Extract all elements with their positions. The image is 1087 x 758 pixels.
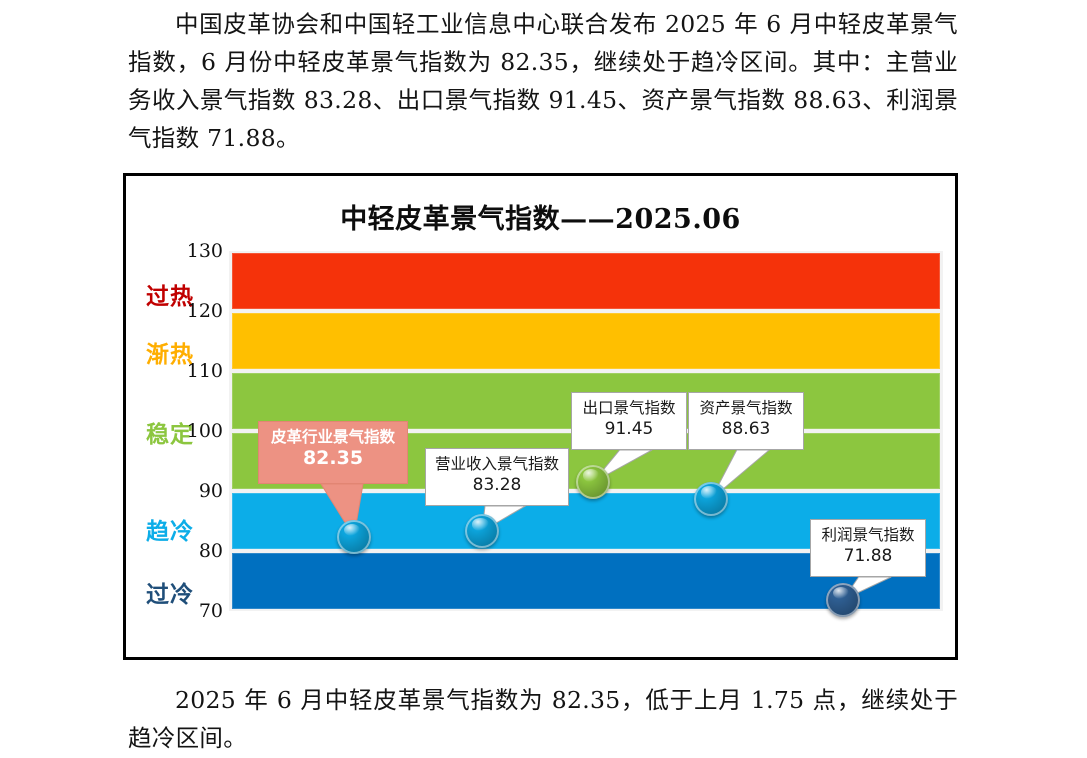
marker-ring — [576, 465, 610, 499]
callout-title: 利润景气指数 — [817, 525, 919, 545]
data-callout-0[interactable]: 皮革行业景气指数82.35 — [258, 421, 408, 484]
data-callout-1[interactable]: 营业收入景气指数83.28 — [425, 448, 569, 506]
data-point-marker-0[interactable] — [337, 520, 371, 554]
chart-band — [232, 253, 940, 309]
y-axis-tick-label: 130 — [177, 240, 223, 262]
callout-value: 83.28 — [432, 474, 562, 497]
y-axis-tick-label: 110 — [177, 360, 223, 382]
marker-ring — [337, 520, 371, 554]
y-axis-tick-label: 120 — [177, 300, 223, 322]
data-point-marker-1[interactable] — [465, 514, 499, 548]
summary-paragraph: 2025 年 6 月中轻皮革景气指数为 82.35，低于上月 1.75 点，继续… — [128, 681, 958, 757]
callout-title: 营业收入景气指数 — [432, 454, 562, 474]
data-point-marker-3[interactable] — [694, 482, 728, 516]
y-axis-tick-label: 90 — [177, 480, 223, 502]
y-axis-tick-label: 70 — [177, 600, 223, 622]
callout-title: 出口景气指数 — [578, 398, 680, 418]
intro-paragraph: 中国皮革协会和中国轻工业信息中心联合发布 2025 年 6 月中轻皮革景气指数，… — [128, 5, 958, 157]
callout-value: 91.45 — [578, 418, 680, 441]
data-callout-4[interactable]: 利润景气指数71.88 — [810, 519, 926, 577]
chart-title: 中轻皮革景气指数——2025.06 — [126, 197, 955, 236]
callout-value: 71.88 — [817, 545, 919, 568]
callout-value: 82.35 — [265, 447, 401, 470]
y-axis-tick-label: 100 — [177, 420, 223, 442]
data-point-marker-4[interactable] — [826, 583, 860, 617]
chart-container: 中轻皮革景气指数——2025.06 过热渐热稳定趋冷过冷 13012011010… — [123, 173, 958, 660]
callout-title: 资产景气指数 — [695, 398, 797, 418]
marker-ring — [694, 482, 728, 516]
data-callout-3[interactable]: 资产景气指数88.63 — [688, 392, 804, 450]
y-axis: 130120110100908070 — [163, 251, 223, 611]
marker-ring — [465, 514, 499, 548]
data-callout-2[interactable]: 出口景气指数91.45 — [571, 392, 687, 450]
callout-value: 88.63 — [695, 418, 797, 441]
chart-band — [232, 313, 940, 369]
y-axis-tick-label: 80 — [177, 540, 223, 562]
callout-title: 皮革行业景气指数 — [265, 427, 401, 447]
data-point-marker-2[interactable] — [576, 465, 610, 499]
marker-ring — [826, 583, 860, 617]
